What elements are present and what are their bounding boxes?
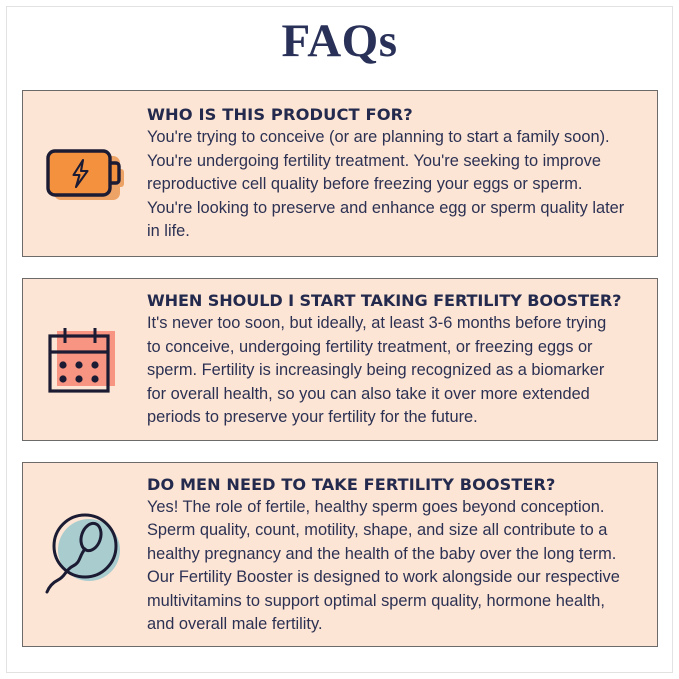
faq-card: WHEN SHOULD I START TAKING FERTILITY BOO…	[22, 278, 658, 441]
faq-card: WHO IS THIS PRODUCT FOR? You're trying t…	[22, 90, 658, 257]
faq-text-container: WHO IS THIS PRODUCT FOR? You're trying t…	[147, 103, 657, 244]
faq-question: WHEN SHOULD I START TAKING FERTILITY BOO…	[147, 291, 641, 310]
faq-answer: You're trying to conceive (or are planni…	[147, 126, 627, 244]
page-title: FAQs	[0, 18, 679, 65]
faq-icon-container	[23, 91, 147, 256]
sperm-cell-icon	[40, 512, 130, 598]
faq-card: DO MEN NEED TO TAKE FERTILITY BOOSTER? Y…	[22, 462, 658, 647]
faq-answer: Yes! The role of fertile, healthy sperm …	[147, 496, 633, 637]
faq-question: WHO IS THIS PRODUCT FOR?	[147, 105, 641, 124]
faq-icon-container	[23, 279, 147, 440]
faq-text-container: WHEN SHOULD I START TAKING FERTILITY BOO…	[147, 289, 657, 430]
battery-bolt-icon	[42, 143, 128, 205]
faq-answer: It's never too soon, but ideally, at lea…	[147, 312, 621, 430]
calendar-icon	[43, 323, 127, 397]
faq-question: DO MEN NEED TO TAKE FERTILITY BOOSTER?	[147, 475, 641, 494]
faq-page: FAQs WHO IS THIS PRODUCT FOR? You're try…	[0, 0, 679, 679]
faq-text-container: DO MEN NEED TO TAKE FERTILITY BOOSTER? Y…	[147, 473, 657, 637]
faq-icon-container	[23, 463, 147, 646]
